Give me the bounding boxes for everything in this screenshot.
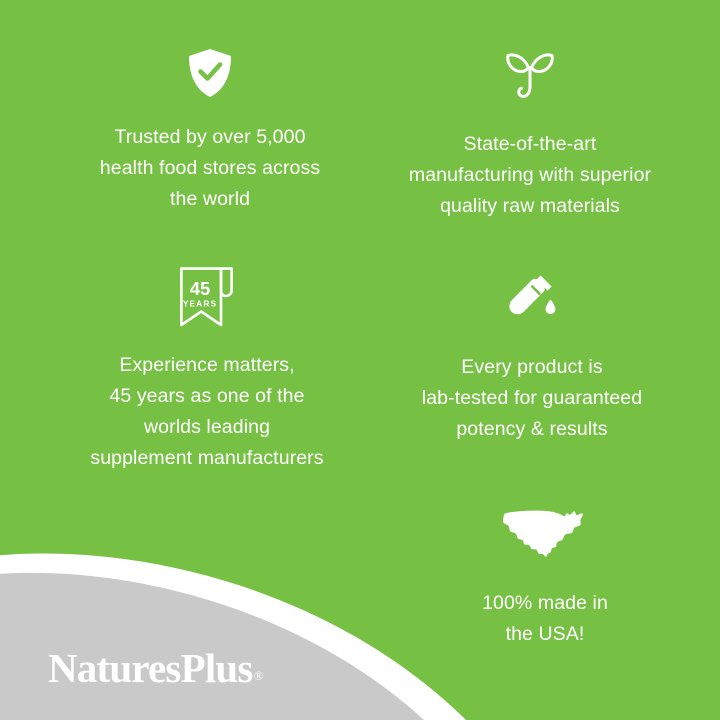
feature-state-of-the-art-text: State-of-the-art manufacturing with supe… (409, 129, 651, 222)
brand-name: NaturesPlus (48, 645, 253, 691)
feature-experience: 45 YEARS Experience matters, 45 years as… (22, 266, 392, 474)
registered-trademark-icon: ® (254, 668, 263, 683)
sprout-leaf-icon (502, 45, 558, 103)
badge-label: YEARS (183, 299, 217, 309)
feature-lab-tested: Every product is lab-tested for guarante… (357, 272, 707, 445)
feature-lab-tested-text: Every product is lab-tested for guarante… (422, 352, 642, 445)
feature-made-in-usa-text: 100% made in the USA! (482, 588, 608, 650)
badge-number: 45 (190, 278, 211, 299)
feature-trusted-text: Trusted by over 5,000 health food stores… (100, 122, 320, 215)
shield-check-icon (188, 48, 232, 98)
feature-experience-text: Experience matters, 45 years as one of t… (90, 350, 323, 474)
brand-logo: NaturesPlus® (48, 648, 262, 689)
feature-state-of-the-art: State-of-the-art manufacturing with supe… (355, 45, 705, 222)
feature-trusted: Trusted by over 5,000 health food stores… (30, 48, 390, 215)
usa-map-icon (502, 508, 588, 558)
test-tube-drop-icon (506, 272, 558, 324)
feature-made-in-usa: 100% made in the USA! (385, 508, 705, 650)
45-years-badge-icon: 45 YEARS (179, 266, 235, 328)
promo-panel: Trusted by over 5,000 health food stores… (0, 0, 720, 720)
